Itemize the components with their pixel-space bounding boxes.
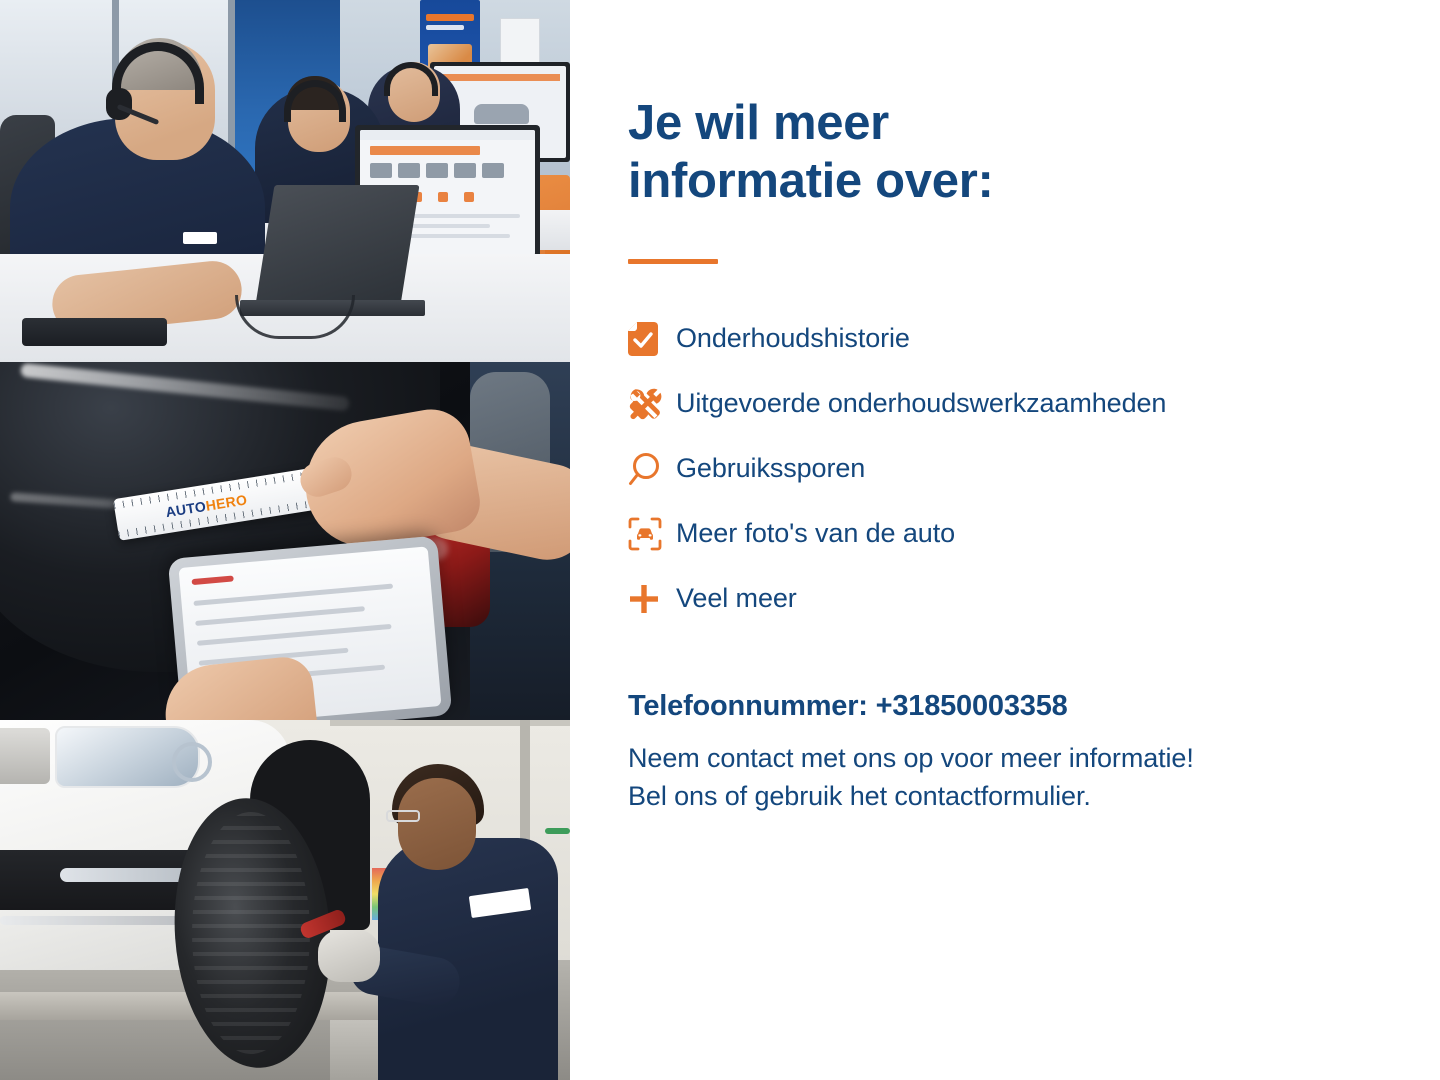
feature-label: Gebruikssporen <box>676 453 865 484</box>
screen-header-bar <box>440 74 560 81</box>
car-thumbnail <box>370 163 392 178</box>
laptop-screen <box>255 185 419 305</box>
photo-call-center <box>0 0 570 362</box>
feature-icon <box>438 192 448 202</box>
promo-banner: AUTOHERO <box>0 0 1440 1080</box>
work-glove <box>318 930 380 982</box>
fog-light-strip <box>60 868 190 882</box>
tablet-text-line <box>197 624 392 646</box>
feature-item-veel-meer: Veel meer <box>628 566 1358 631</box>
mechanic-head <box>398 778 476 870</box>
browser-chrome <box>360 130 535 140</box>
tools-wrench-screwdriver-icon <box>628 387 676 421</box>
contact-block: Telefoonnummer: +31850003358 Neem contac… <box>628 690 1388 816</box>
chrome-trim <box>0 916 200 925</box>
car-grille <box>0 728 50 784</box>
plus-icon <box>628 583 676 615</box>
feature-label: Meer foto's van de auto <box>676 518 955 549</box>
feature-label: Uitgevoerde onderhoudswerkzaamheden <box>676 388 1166 419</box>
feature-item-gebruikssporen: Gebruikssporen <box>628 436 1358 501</box>
photo-wheel-inspection <box>0 720 570 1080</box>
page-title: Je wil meer informatie over: <box>628 95 1128 211</box>
feature-item-onderhoudshistorie: Onderhoudshistorie <box>628 306 1358 371</box>
contact-line-1: Neem contact met ons op voor meer inform… <box>628 739 1388 777</box>
feature-icon <box>464 192 474 202</box>
headlight-projector <box>172 742 212 782</box>
tyre-tread <box>192 812 310 1054</box>
title-divider <box>628 259 718 264</box>
photo-panel-inspection: AUTOHERO <box>0 362 570 720</box>
car-thumbnail <box>398 163 420 178</box>
autohero-polo-logo <box>183 232 217 244</box>
feature-item-meer-fotos: Meer foto's van de auto <box>628 501 1358 566</box>
poster-band <box>426 25 464 30</box>
content-column: Je wil meer informatie over: <box>570 0 1440 1080</box>
page-title-line-2: informatie over: <box>628 154 994 208</box>
phone-number[interactable]: Telefoonnummer: +31850003358 <box>628 690 1388 723</box>
wall-seam <box>330 720 570 726</box>
feature-list: Onderhoudshistorie Uitgev <box>628 306 1358 631</box>
tablet-header <box>192 575 234 585</box>
photo-column: AUTOHERO <box>0 0 570 1080</box>
poster-band <box>426 14 474 21</box>
glasses-icon <box>386 810 420 822</box>
contact-line-2: Bel ons of gebruik het contactformulier. <box>628 777 1388 815</box>
screen-search-bar <box>370 146 480 155</box>
car-thumbnail <box>426 163 448 178</box>
car-scan-icon <box>628 517 676 551</box>
tablet-text-line <box>193 584 393 606</box>
page-title-line-1: Je wil meer <box>628 96 889 150</box>
car-headlight <box>55 726 200 788</box>
car-thumbnail <box>454 163 476 178</box>
magnifier-icon <box>628 452 676 486</box>
feature-item-onderhoudswerkzaamheden: Uitgevoerde onderhoudswerkzaamheden <box>628 371 1358 436</box>
screen-car-thumbnail <box>474 104 529 124</box>
document-check-icon <box>628 322 676 356</box>
feature-label: Onderhoudshistorie <box>676 323 910 354</box>
car-thumbnail <box>482 163 504 178</box>
green-hose <box>545 828 570 834</box>
feature-label: Veel meer <box>676 583 797 614</box>
desk-tablet <box>22 318 167 346</box>
tablet-text-line <box>195 606 365 626</box>
